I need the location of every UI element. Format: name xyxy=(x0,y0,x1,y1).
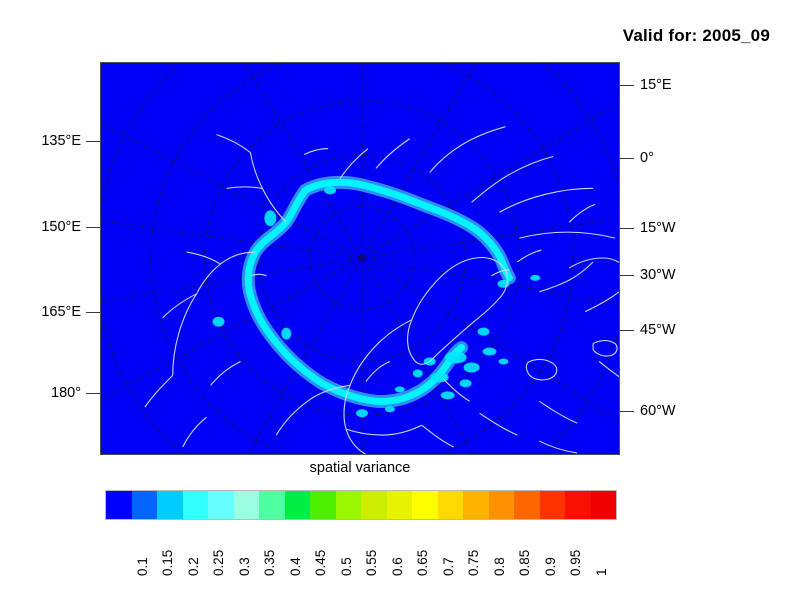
axis-label-right-45w: 45°W xyxy=(640,323,676,338)
colorbar-tick-label: 0.5 xyxy=(340,557,354,576)
axis-label-right-15w: 15°W xyxy=(640,221,676,236)
colorbar-tick-label: 0.9 xyxy=(544,557,558,576)
axis-tick-right xyxy=(620,411,634,412)
colorbar-swatch-8 xyxy=(310,491,336,519)
colorbar-tick-label: 0.7 xyxy=(442,557,456,576)
colorbar-swatch-13 xyxy=(438,491,464,519)
colorbar-tick-label: 0.25 xyxy=(212,550,226,576)
axis-tick-right xyxy=(620,158,634,159)
axis-label-left-165e: 165°E xyxy=(41,305,81,320)
colorbar-tick-label: 0.15 xyxy=(161,550,175,576)
colorbar-tick-labels: 0.10.150.20.250.30.350.40.450.50.550.60.… xyxy=(105,522,615,582)
colorbar-tick-label: 0.35 xyxy=(263,550,277,576)
axis-tick-right xyxy=(620,330,634,331)
axis-tick-left xyxy=(86,227,100,228)
colorbar-tick-label: 0.4 xyxy=(289,557,303,576)
colorbar-swatch-15 xyxy=(489,491,515,519)
colorbar-swatch-11 xyxy=(387,491,413,519)
colorbar-tick-label: 0.3 xyxy=(238,557,252,576)
axis-tick-right xyxy=(620,275,634,276)
colorbar-tick-label: 0.1 xyxy=(136,557,150,576)
colorbar-tick-label: 0.55 xyxy=(365,550,379,576)
colorbar-tick-label: 0.85 xyxy=(518,550,532,576)
colorbar-tick-label: 0.75 xyxy=(467,550,481,576)
colorbar-swatch-10 xyxy=(361,491,387,519)
colorbar-swatch-1 xyxy=(132,491,158,519)
axis-tick-left xyxy=(86,141,100,142)
axis-label-right-0: 0° xyxy=(640,151,654,166)
axis-label-right-15e: 15°E xyxy=(640,78,672,93)
axis-label-right-60w: 60°W xyxy=(640,404,676,419)
axis-label-left-150e: 150°E xyxy=(41,220,81,235)
map-plot-area xyxy=(100,62,620,455)
colorbar-swatch-18 xyxy=(565,491,591,519)
colorbar-tick-label: 0.45 xyxy=(314,550,328,576)
colorbar-swatch-4 xyxy=(208,491,234,519)
colorbar xyxy=(105,490,617,520)
axis-tick-right xyxy=(620,85,634,86)
colorbar-swatch-2 xyxy=(157,491,183,519)
colorbar-tick-label: 0.8 xyxy=(493,557,507,576)
colorbar-tick-label: 0.2 xyxy=(187,557,201,576)
colorbar-tick-label: 1 xyxy=(595,568,609,576)
x-axis-caption: spatial variance xyxy=(100,460,620,476)
axis-label-left-135e: 135°E xyxy=(41,134,81,149)
colorbar-swatch-5 xyxy=(234,491,260,519)
colorbar-swatch-9 xyxy=(336,491,362,519)
colorbar-swatch-7 xyxy=(285,491,311,519)
colorbar-swatch-19 xyxy=(591,491,617,519)
colorbar-tick-label: 0.6 xyxy=(391,557,405,576)
axis-label-right-30w: 30°W xyxy=(640,268,676,283)
colorbar-swatch-14 xyxy=(463,491,489,519)
colorbar-swatch-12 xyxy=(412,491,438,519)
colorbar-swatch-3 xyxy=(183,491,209,519)
axis-tick-left xyxy=(86,393,100,394)
axis-label-left-180: 180° xyxy=(51,386,81,401)
polar-stereographic-map xyxy=(101,63,619,454)
colorbar-swatch-16 xyxy=(514,491,540,519)
axis-tick-right xyxy=(620,228,634,229)
page-title: Valid for: 2005_09 xyxy=(430,26,770,46)
colorbar-swatch-0 xyxy=(106,491,132,519)
colorbar-tick-label: 0.95 xyxy=(569,550,583,576)
colorbar-swatch-17 xyxy=(540,491,566,519)
colorbar-tick-label: 0.65 xyxy=(416,550,430,576)
axis-tick-left xyxy=(86,312,100,313)
colorbar-swatch-6 xyxy=(259,491,285,519)
